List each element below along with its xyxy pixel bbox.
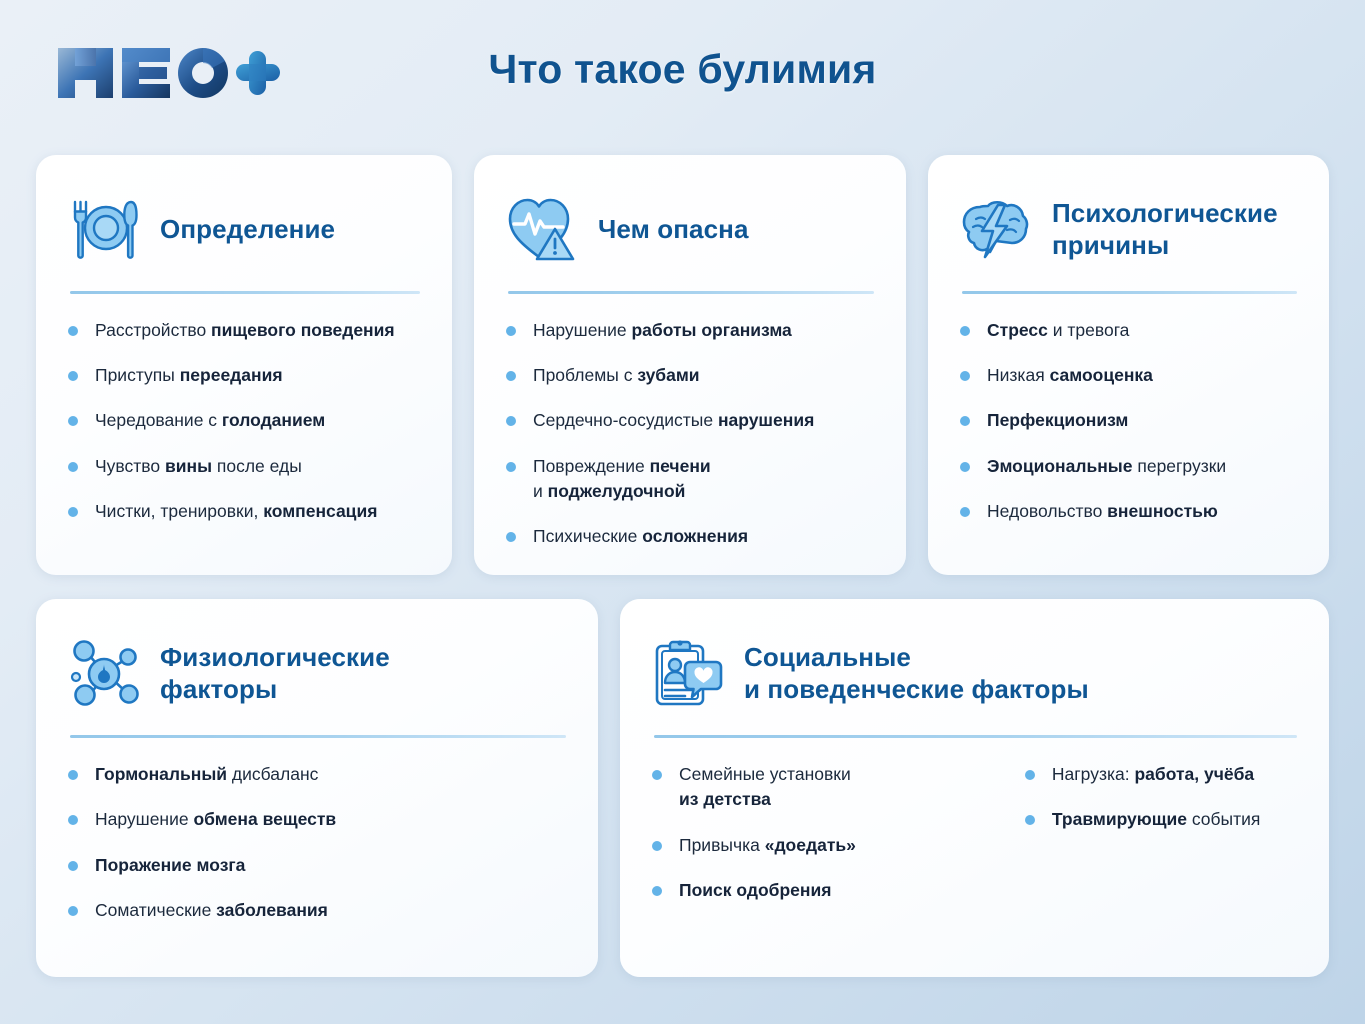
card-physiological-factors[interactable]: Физиологическиефакторы Гормональный дисб… <box>36 599 598 977</box>
list-item: Перфекционизм <box>960 408 1299 433</box>
list-item: Расстройство пищевого поведения <box>68 318 422 343</box>
card-bullet-list: Расстройство пищевого поведенияПриступы … <box>68 318 422 524</box>
page-title: Что такое булимия <box>0 46 1365 93</box>
list-item: Соматические заболевания <box>68 898 568 923</box>
card-bullet-list-right: Нагрузка: работа, учёбаТравмирующие собы… <box>1025 762 1299 832</box>
list-item: Поиск одобрения <box>652 878 981 903</box>
card-definition[interactable]: Определение Расстройство пищевого поведе… <box>36 155 452 575</box>
card-bullet-list: Нарушение работы организмаПроблемы с зуб… <box>506 318 876 549</box>
list-item: Чистки, тренировки, компенсация <box>68 499 422 524</box>
card-header: Психологическиепричины <box>960 181 1299 277</box>
card-title: Физиологическиефакторы <box>160 641 390 705</box>
list-item: Недовольство внешностью <box>960 499 1299 524</box>
card-psychological-causes[interactable]: Психологическиепричины Стресс и тревогаН… <box>928 155 1329 575</box>
card-danger[interactable]: Чем опасна Нарушение работы организмаПро… <box>474 155 906 575</box>
list-item: Чередование с голоданием <box>68 408 422 433</box>
list-item: Эмоциональные перегрузки <box>960 454 1299 479</box>
card-divider <box>70 735 566 738</box>
brain-lightning-icon <box>960 193 1032 265</box>
list-item: Приступы переедания <box>68 363 422 388</box>
list-item: Психические осложнения <box>506 524 876 549</box>
card-divider <box>70 291 420 294</box>
card-title: Социальныеи поведенческие факторы <box>744 641 1089 705</box>
card-divider <box>654 735 1297 738</box>
list-item: Нагрузка: работа, учёба <box>1025 762 1299 787</box>
card-header: Физиологическиефакторы <box>68 625 568 721</box>
list-item: Сердечно-сосудистые нарушения <box>506 408 876 433</box>
card-bullet-list: Гормональный дисбалансНарушение обмена в… <box>68 762 568 923</box>
card-header: Социальныеи поведенческие факторы <box>652 625 1299 721</box>
molecule-hormone-icon <box>68 637 140 709</box>
bullets-two-columns: Семейные установкииз детстваПривычка «до… <box>652 762 1299 903</box>
list-item: Чувство вины после еды <box>68 454 422 479</box>
list-item: Привычка «доедать» <box>652 833 981 858</box>
page-header: Что такое булимия <box>0 0 1365 145</box>
list-item: Низкая самооценка <box>960 363 1299 388</box>
plate-cutlery-icon <box>68 193 140 265</box>
bullets-column-right: Нагрузка: работа, учёбаТравмирующие собы… <box>1025 762 1299 903</box>
cards-row-bottom: Физиологическиефакторы Гормональный дисб… <box>36 599 1329 977</box>
list-item: Семейные установкииз детства <box>652 762 981 812</box>
card-title: Определение <box>160 213 335 245</box>
list-item: Повреждение печении поджелудочной <box>506 454 876 504</box>
card-bullet-list: Стресс и тревогаНизкая самооценкаПерфекц… <box>960 318 1299 524</box>
clipboard-person-heart-icon <box>652 637 724 709</box>
list-item: Гормональный дисбаланс <box>68 762 568 787</box>
list-item: Проблемы с зубами <box>506 363 876 388</box>
card-header: Чем опасна <box>506 181 876 277</box>
cards-board: Определение Расстройство пищевого поведе… <box>36 155 1329 977</box>
list-item: Поражение мозга <box>68 853 568 878</box>
card-divider <box>962 291 1297 294</box>
card-bullet-list-left: Семейные установкииз детстваПривычка «до… <box>652 762 981 903</box>
bullets-column-left: Семейные установкииз детстваПривычка «до… <box>652 762 981 903</box>
cards-row-top: Определение Расстройство пищевого поведе… <box>36 155 1329 575</box>
card-divider <box>508 291 874 294</box>
list-item: Травмирующие события <box>1025 807 1299 832</box>
list-item: Стресс и тревога <box>960 318 1299 343</box>
list-item: Нарушение обмена веществ <box>68 807 568 832</box>
card-title: Психологическиепричины <box>1052 197 1278 261</box>
list-item: Нарушение работы организма <box>506 318 876 343</box>
card-title: Чем опасна <box>598 213 749 245</box>
card-header: Определение <box>68 181 422 277</box>
heart-pulse-warning-icon <box>506 193 578 265</box>
card-social-behavioral-factors[interactable]: Социальныеи поведенческие факторы Семейн… <box>620 599 1329 977</box>
